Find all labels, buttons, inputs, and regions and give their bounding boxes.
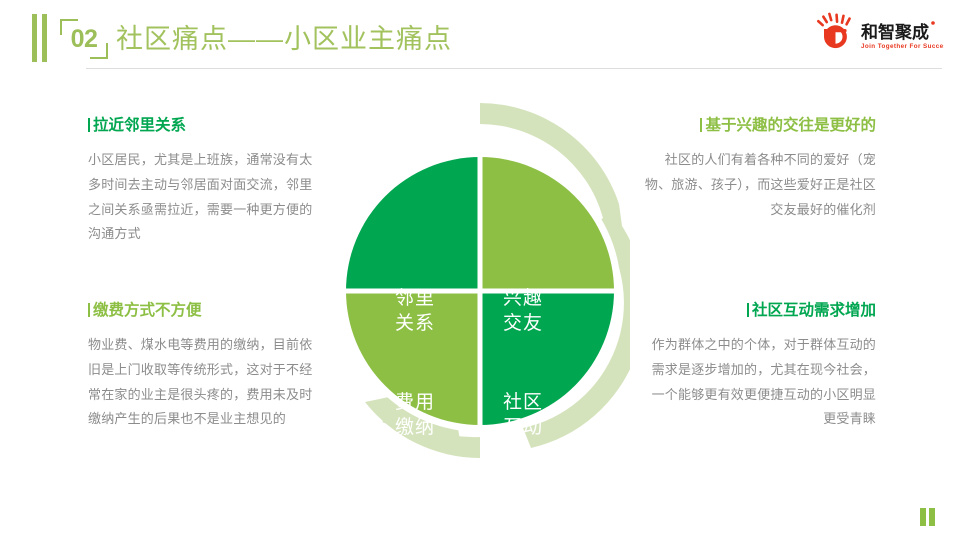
quadrant-label-top-left: 邻里 关系 — [370, 286, 460, 336]
quadrant-label-bottom-left: 费用 缴纳 — [370, 390, 460, 440]
quadrant-label-line1: 社区 — [478, 390, 568, 415]
logo-registered-dot-icon — [931, 21, 935, 25]
block-heading: 拉近邻里关系 — [88, 117, 320, 136]
quadrant-label-bottom-right: 社区 互动 — [478, 390, 568, 440]
slide-number-badge: 02 — [60, 19, 108, 59]
footer-bar-1 — [920, 508, 926, 526]
block-body: 作为群体之中的个体，对于群体互动的需求是逐步增加的，尤其在现今社会，一个能够更有… — [644, 333, 876, 433]
block-body: 物业费、煤水电等费用的缴纳，目前依旧是上门收取等传统形式，这对于不经常在家的业主… — [88, 333, 320, 433]
block-heading-text: 拉近邻里关系 — [93, 117, 186, 134]
page-title: 社区痛点——小区业主痛点 — [116, 26, 452, 53]
quadrant-label-top-right: 兴趣 交友 — [478, 286, 568, 336]
block-heading-text: 社区互动需求增加 — [752, 302, 876, 319]
quadrant-label-line2: 缴纳 — [370, 415, 460, 440]
bracket-top-left-icon — [60, 19, 78, 35]
quadrant-label-line2: 关系 — [370, 311, 460, 336]
brand-logo: 和智聚成 Join Together For Success — [814, 12, 944, 58]
logo-name-cn: 和智聚成 — [861, 22, 929, 42]
accent-bar-1 — [32, 14, 37, 62]
page-title-row: 02 社区痛点——小区业主痛点 — [60, 16, 452, 62]
quadrant-label-line1: 费用 — [370, 390, 460, 415]
quadrant-top-left[interactable] — [346, 157, 480, 291]
block-heading-text: 基于兴趣的交往是更好的 — [705, 117, 876, 134]
footer-accent-mark — [920, 508, 936, 526]
header-accent-bars — [32, 14, 49, 62]
heading-bar-icon — [88, 118, 90, 132]
block-body: 小区居民，尤其是上班族，通常没有太多时间去主动与邻居面对面交流，邻里之间关系亟需… — [88, 148, 320, 248]
footer-bar-2 — [929, 508, 935, 526]
block-heading: 基于兴趣的交往是更好的 — [644, 117, 876, 136]
four-quadrant-cycle-diagram: 邻里 关系 兴趣 交友 费用 缴纳 社区 互动 — [330, 100, 630, 482]
logo-sunburst-icon — [816, 12, 851, 27]
accent-bar-2 — [42, 14, 47, 62]
logo-e-icon — [824, 25, 847, 48]
block-heading: 缴费方式不方便 — [88, 302, 320, 321]
pain-point-block-payment-inconvenience: 缴费方式不方便 物业费、煤水电等费用的缴纳，目前依旧是上门收取等传统形式，这对于… — [88, 302, 320, 432]
pain-point-block-interaction-demand: 社区互动需求增加 作为群体之中的个体，对于群体互动的需求是逐步增加的，尤其在现今… — [644, 302, 876, 432]
heading-bar-icon — [88, 303, 90, 317]
heading-bar-icon — [700, 118, 702, 132]
block-body: 社区的人们有着各种不同的爱好（宠物、旅游、孩子），而这些爱好正是社区交友最好的催… — [644, 148, 876, 223]
slide-header: 02 社区痛点——小区业主痛点 和智聚成 Join Together For S… — [0, 0, 960, 80]
quadrant-label-line1: 兴趣 — [478, 286, 568, 311]
heading-bar-icon — [747, 303, 749, 317]
header-divider — [86, 68, 942, 69]
pain-point-block-interest-based-social: 基于兴趣的交往是更好的 社区的人们有着各种不同的爱好（宠物、旅游、孩子），而这些… — [644, 117, 876, 222]
quadrant-label-line2: 交友 — [478, 311, 568, 336]
quadrant-label-line1: 邻里 — [370, 286, 460, 311]
quadrant-label-line2: 互动 — [478, 415, 568, 440]
logo-tagline: Join Together For Success — [861, 43, 944, 50]
pain-point-block-neighbor-relations: 拉近邻里关系 小区居民，尤其是上班族，通常没有太多时间去主动与邻居面对面交流，邻… — [88, 117, 320, 247]
bracket-bottom-right-icon — [90, 43, 108, 59]
block-heading-text: 缴费方式不方便 — [93, 302, 202, 319]
block-heading: 社区互动需求增加 — [644, 302, 876, 321]
